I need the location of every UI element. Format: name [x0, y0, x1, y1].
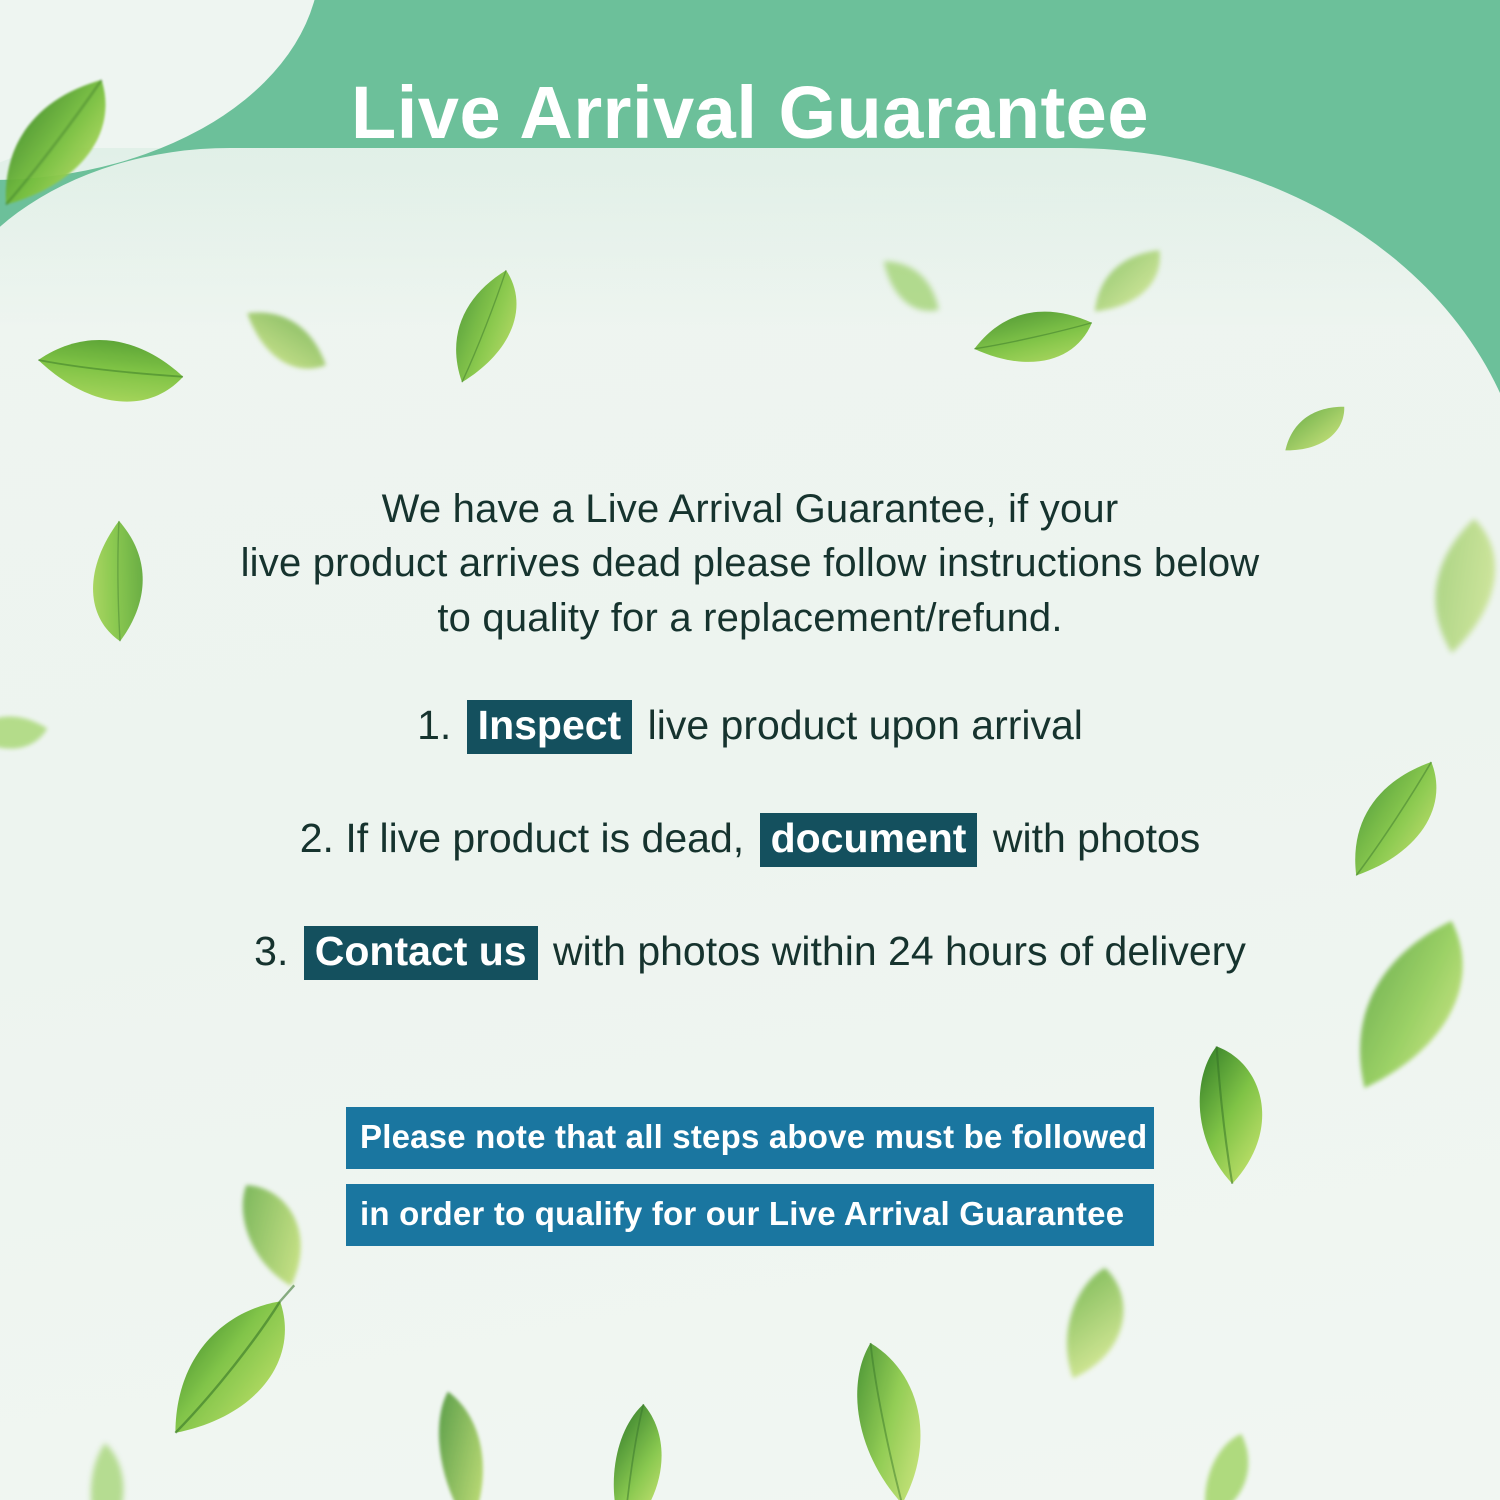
step-highlight-contact-us[interactable]: Contact us: [304, 926, 538, 980]
step-number: 2.: [300, 815, 334, 861]
step-text: live product upon arrival: [648, 702, 1083, 748]
step-highlight-document[interactable]: document: [760, 813, 978, 867]
steps-list: 1. Inspect live product upon arrival 2. …: [60, 700, 1440, 1039]
intro-line-3: to quality for a replacement/refund.: [150, 591, 1350, 645]
step-number: 3.: [254, 928, 288, 974]
step-text: with photos: [993, 815, 1200, 861]
step-item-1: 1. Inspect live product upon arrival: [60, 700, 1440, 754]
poster-content: Live Arrival Guarantee We have a Live Ar…: [0, 0, 1500, 1500]
footer-notes: Please note that all steps above must be…: [0, 1107, 1500, 1246]
note-line-2: in order to qualify for our Live Arrival…: [346, 1184, 1154, 1246]
page-title: Live Arrival Guarantee: [0, 74, 1500, 152]
intro-line-2: live product arrives dead please follow …: [150, 536, 1350, 590]
step-item-3: 3. Contact us with photos within 24 hour…: [60, 926, 1440, 980]
intro-paragraph: We have a Live Arrival Guarantee, if you…: [150, 482, 1350, 645]
step-item-2: 2. If live product is dead, document wit…: [60, 813, 1440, 867]
step-text-before: If live product is dead,: [345, 815, 744, 861]
step-text: with photos within 24 hours of delivery: [553, 928, 1246, 974]
note-line-1: Please note that all steps above must be…: [346, 1107, 1154, 1169]
step-number: 1.: [417, 702, 451, 748]
intro-line-1: We have a Live Arrival Guarantee, if you…: [150, 482, 1350, 536]
step-highlight-inspect[interactable]: Inspect: [467, 700, 633, 754]
poster-canvas: Live Arrival Guarantee We have a Live Ar…: [0, 0, 1500, 1500]
